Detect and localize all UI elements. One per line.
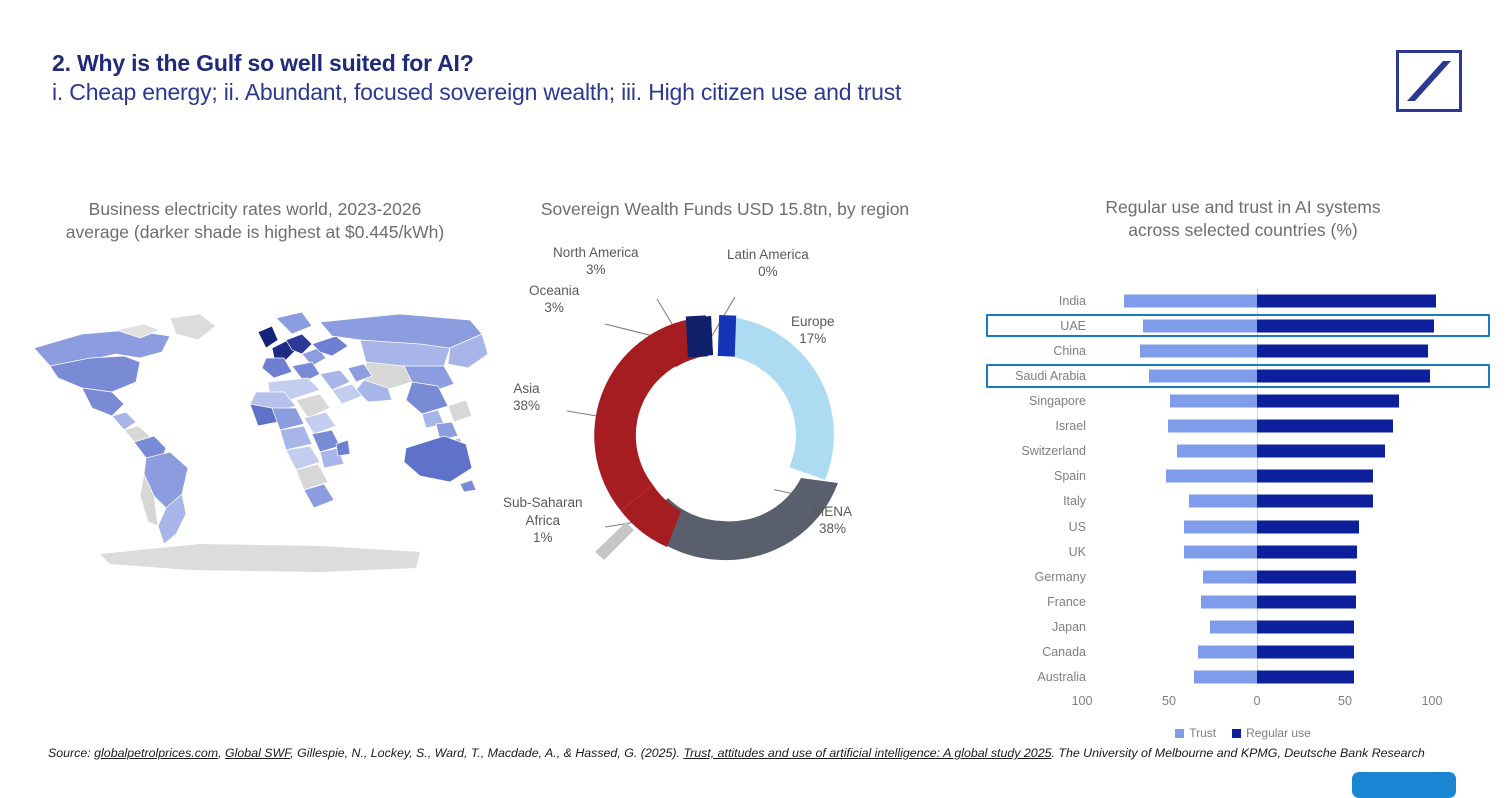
bar-track	[1082, 389, 1454, 414]
legend-item-trust: Trust	[1175, 726, 1216, 740]
deutsche-bank-logo-icon	[1396, 50, 1462, 112]
bar-segment-regular-use	[1257, 671, 1354, 684]
x-axis-ticks: 100 50 0 50 100	[1018, 694, 1468, 718]
bar-segment-regular-use	[1257, 646, 1354, 659]
bar-track	[1082, 313, 1454, 338]
bar-row-label: Germany	[1035, 570, 1086, 584]
bar-row-label: Canada	[1042, 645, 1086, 659]
donut-label-mena: MENA 38%	[813, 504, 852, 538]
donut-panel-title: Sovereign Wealth Funds USD 15.8tn, by re…	[495, 198, 955, 221]
x-tick-0: 100	[1072, 694, 1093, 708]
legend-item-regular-use: Regular use	[1232, 726, 1311, 740]
electricity-rates-map-panel: Business electricity rates world, 2023-2…	[20, 198, 490, 596]
bar-track	[1082, 439, 1454, 464]
bar-track	[1082, 539, 1454, 564]
bar-segment-trust	[1184, 545, 1258, 558]
x-tick-3: 50	[1338, 694, 1352, 708]
bar-track	[1082, 414, 1454, 439]
bar-segment-trust	[1189, 495, 1257, 508]
bar-segment-regular-use	[1257, 344, 1428, 357]
bar-segment-trust	[1124, 294, 1257, 307]
source-link-study[interactable]: Trust, attitudes and use of artificial i…	[683, 746, 1051, 760]
bar-segment-regular-use	[1257, 395, 1399, 408]
bar-segment-trust	[1149, 370, 1258, 383]
bar-row: Australia	[1018, 665, 1468, 690]
page-subtitle: i. Cheap energy; ii. Abundant, focused s…	[52, 79, 1352, 107]
donut-label-asia: Asia 38%	[513, 381, 540, 415]
bar-row: India	[1018, 288, 1468, 313]
bar-track	[1082, 665, 1454, 690]
bar-row-label: France	[1047, 595, 1086, 609]
bottom-right-accent-bar	[1352, 772, 1456, 798]
bar-row: Germany	[1018, 564, 1468, 589]
bar-track	[1082, 614, 1454, 639]
x-tick-2: 0	[1254, 694, 1261, 708]
sovereign-wealth-donut-panel: Sovereign Wealth Funds USD 15.8tn, by re…	[495, 198, 955, 599]
bar-segment-regular-use	[1257, 370, 1430, 383]
bar-segment-regular-use	[1257, 520, 1359, 533]
bar-track	[1082, 288, 1454, 313]
page-title: 2. Why is the Gulf so well suited for AI…	[52, 50, 1352, 77]
bar-row-label: Saudi Arabia	[1015, 369, 1086, 383]
map-panel-title: Business electricity rates world, 2023-2…	[20, 198, 490, 244]
bar-segment-trust	[1210, 620, 1257, 633]
source-link-globalpetrolprices[interactable]: globalpetrolprices.com	[94, 746, 218, 760]
bar-row-label: Singapore	[1029, 394, 1086, 408]
bar-row: Israel	[1018, 414, 1468, 439]
bar-segment-regular-use	[1257, 595, 1356, 608]
bar-segment-trust	[1194, 671, 1257, 684]
bar-track	[1082, 564, 1454, 589]
bar-row: France	[1018, 589, 1468, 614]
slide-header: 2. Why is the Gulf so well suited for AI…	[52, 50, 1352, 107]
source-link-global-swf[interactable]: Global SWF	[225, 746, 290, 760]
bar-segment-regular-use	[1257, 319, 1434, 332]
source-tail-text: . The University of Melbourne and KPMG, …	[1051, 746, 1424, 760]
sovereign-wealth-donut-chart: North America 3% Latin America 0% Oceani…	[495, 239, 955, 599]
donut-label-europe: Europe 17%	[791, 314, 835, 348]
bar-row: UAE	[1018, 313, 1468, 338]
x-tick-1: 50	[1162, 694, 1176, 708]
bar-track	[1082, 363, 1454, 388]
bar-segment-trust	[1198, 646, 1258, 659]
bar-segment-regular-use	[1257, 495, 1373, 508]
bar-track	[1082, 514, 1454, 539]
donut-label-north-america: North America 3%	[553, 245, 639, 279]
bar-track	[1082, 489, 1454, 514]
bar-track	[1082, 338, 1454, 363]
bar-segment-regular-use	[1257, 445, 1385, 458]
legend-swatch-regular-use	[1232, 729, 1241, 738]
bar-segment-regular-use	[1257, 470, 1373, 483]
bar-row: Switzerland	[1018, 439, 1468, 464]
chart-legend: Trust Regular use	[1018, 726, 1468, 740]
diverging-bar-chart: IndiaUAEChinaSaudi ArabiaSingaporeIsrael…	[1018, 288, 1468, 688]
bar-row: Japan	[1018, 614, 1468, 639]
bar-row: Spain	[1018, 464, 1468, 489]
bar-row: Italy	[1018, 489, 1468, 514]
bar-segment-trust	[1203, 570, 1257, 583]
bar-panel-title: Regular use and trust in AI systems acro…	[1018, 196, 1468, 242]
bar-track	[1082, 589, 1454, 614]
bar-row-label: Switzerland	[1021, 444, 1086, 458]
ai-use-trust-bar-panel: Regular use and trust in AI systems acro…	[1018, 196, 1468, 740]
bar-row-label: Australia	[1037, 670, 1086, 684]
bar-row: Singapore	[1018, 389, 1468, 414]
source-sep: ,	[218, 746, 225, 760]
x-tick-4: 100	[1422, 694, 1443, 708]
bar-segment-regular-use	[1257, 570, 1356, 583]
donut-label-oceania: Oceania 3%	[529, 283, 579, 317]
bar-track	[1082, 640, 1454, 665]
bar-segment-regular-use	[1257, 420, 1393, 433]
bar-segment-regular-use	[1257, 620, 1354, 633]
legend-label-regular-use: Regular use	[1246, 726, 1311, 740]
bar-segment-trust	[1166, 470, 1257, 483]
bar-segment-trust	[1201, 595, 1257, 608]
bar-segment-trust	[1177, 445, 1258, 458]
bar-row: Saudi Arabia	[1018, 363, 1468, 388]
bar-row: UK	[1018, 539, 1468, 564]
source-footnote: Source: globalpetrolprices.com, Global S…	[48, 745, 1443, 762]
donut-label-sub-saharan-africa: Sub-SaharanAfrica 1%	[503, 494, 583, 547]
bar-row: US	[1018, 514, 1468, 539]
bar-segment-trust	[1140, 344, 1257, 357]
legend-label-trust: Trust	[1189, 726, 1216, 740]
source-prefix: Source:	[48, 746, 94, 760]
bar-row: China	[1018, 338, 1468, 363]
world-choropleth-map	[20, 296, 490, 596]
bar-segment-regular-use	[1257, 545, 1357, 558]
donut-label-latin-america: Latin America 0%	[727, 247, 809, 281]
bar-segment-regular-use	[1257, 294, 1436, 307]
bar-segment-trust	[1168, 420, 1257, 433]
bar-segment-trust	[1170, 395, 1258, 408]
bar-row: Canada	[1018, 640, 1468, 665]
legend-swatch-trust	[1175, 729, 1184, 738]
source-mid-text: , Gillespie, N., Lockey, S., Ward, T., M…	[290, 746, 683, 760]
bar-segment-trust	[1143, 319, 1257, 332]
bar-track	[1082, 464, 1454, 489]
bar-row-label: Japan	[1052, 620, 1086, 634]
bar-segment-trust	[1184, 520, 1258, 533]
